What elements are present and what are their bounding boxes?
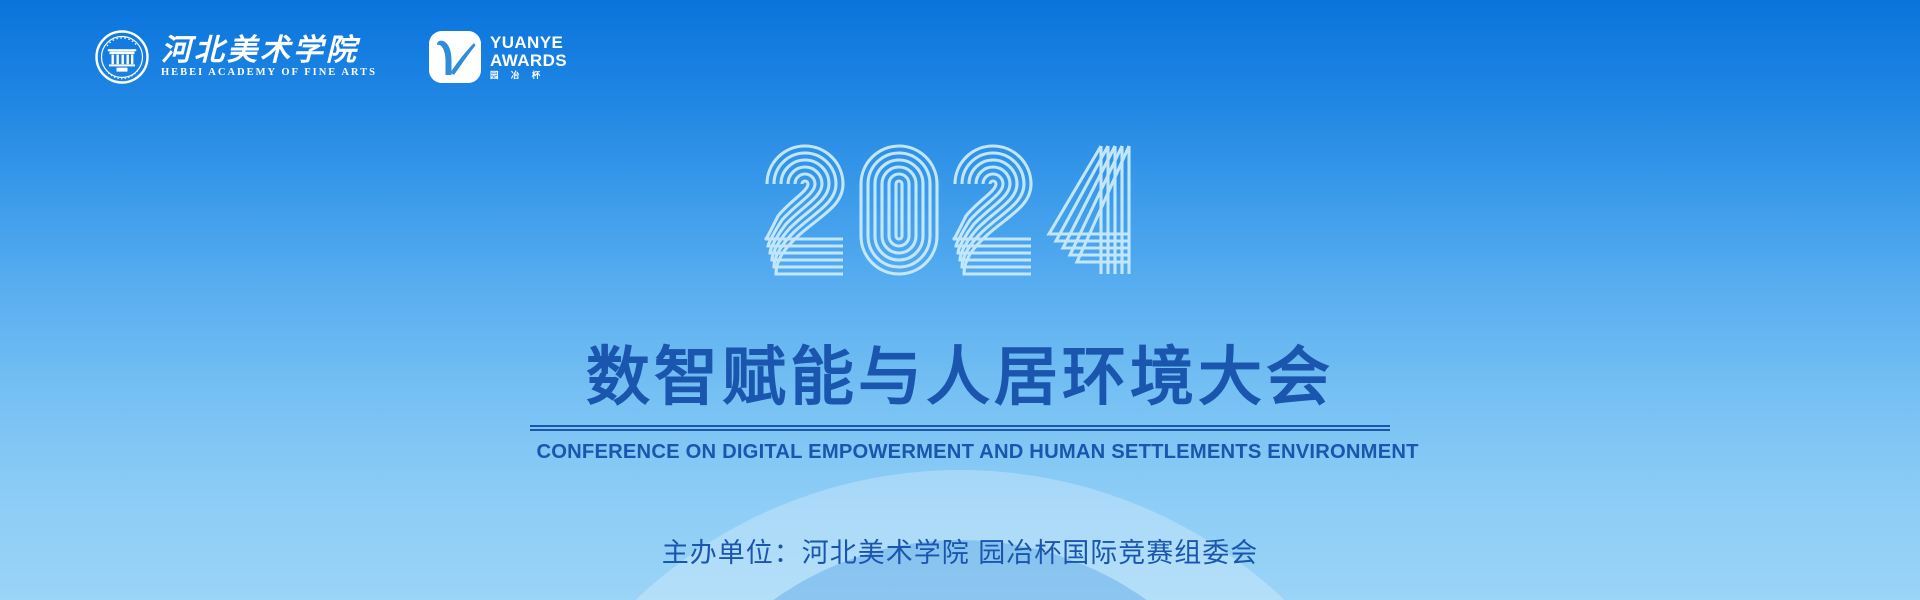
title-block: 数智赋能与人居环境大会 CONFERENCE ON DIGITAL EMPOWE… [530, 340, 1390, 464]
hebei-academy-logo: 河北美术学院 HEBEI ACADEMY OF FINE ARTS [95, 30, 377, 84]
conference-title-cn: 数智赋能与人居环境大会 [530, 340, 1390, 416]
title-divider [530, 425, 1390, 431]
conference-banner: 河北美术学院 HEBEI ACADEMY OF FINE ARTS YUANYE… [0, 0, 1920, 600]
conference-title-en: CONFERENCE ON DIGITAL EMPOWERMENT AND HU… [536, 440, 1383, 464]
logo-row: 河北美术学院 HEBEI ACADEMY OF FINE ARTS YUANYE… [95, 28, 567, 86]
organizer-line: 主办单位：河北美术学院 园冶杯国际竞赛组委会 [662, 531, 1259, 570]
yuanye-name-cn: 园 冶 杯 [490, 71, 567, 80]
hebei-name-en: HEBEI ACADEMY OF FINE ARTS [161, 68, 377, 79]
hebei-name-cn: 河北美术学院 [161, 36, 377, 66]
yuanye-swoosh-icon [429, 31, 481, 83]
yuanye-line1: YUANYE [490, 34, 567, 51]
hebei-wordmark: 河北美术学院 HEBEI ACADEMY OF FINE ARTS [161, 36, 377, 79]
year-2024-graphic [760, 136, 1160, 286]
hebei-academy-seal-icon [95, 30, 149, 84]
yuanye-awards-logo: YUANYE AWARDS 园 冶 杯 [429, 31, 567, 83]
yuanye-line2: AWARDS [490, 52, 567, 69]
yuanye-wordmark: YUANYE AWARDS 园 冶 杯 [490, 34, 567, 79]
year-2024-lineart-icon [760, 136, 1160, 286]
